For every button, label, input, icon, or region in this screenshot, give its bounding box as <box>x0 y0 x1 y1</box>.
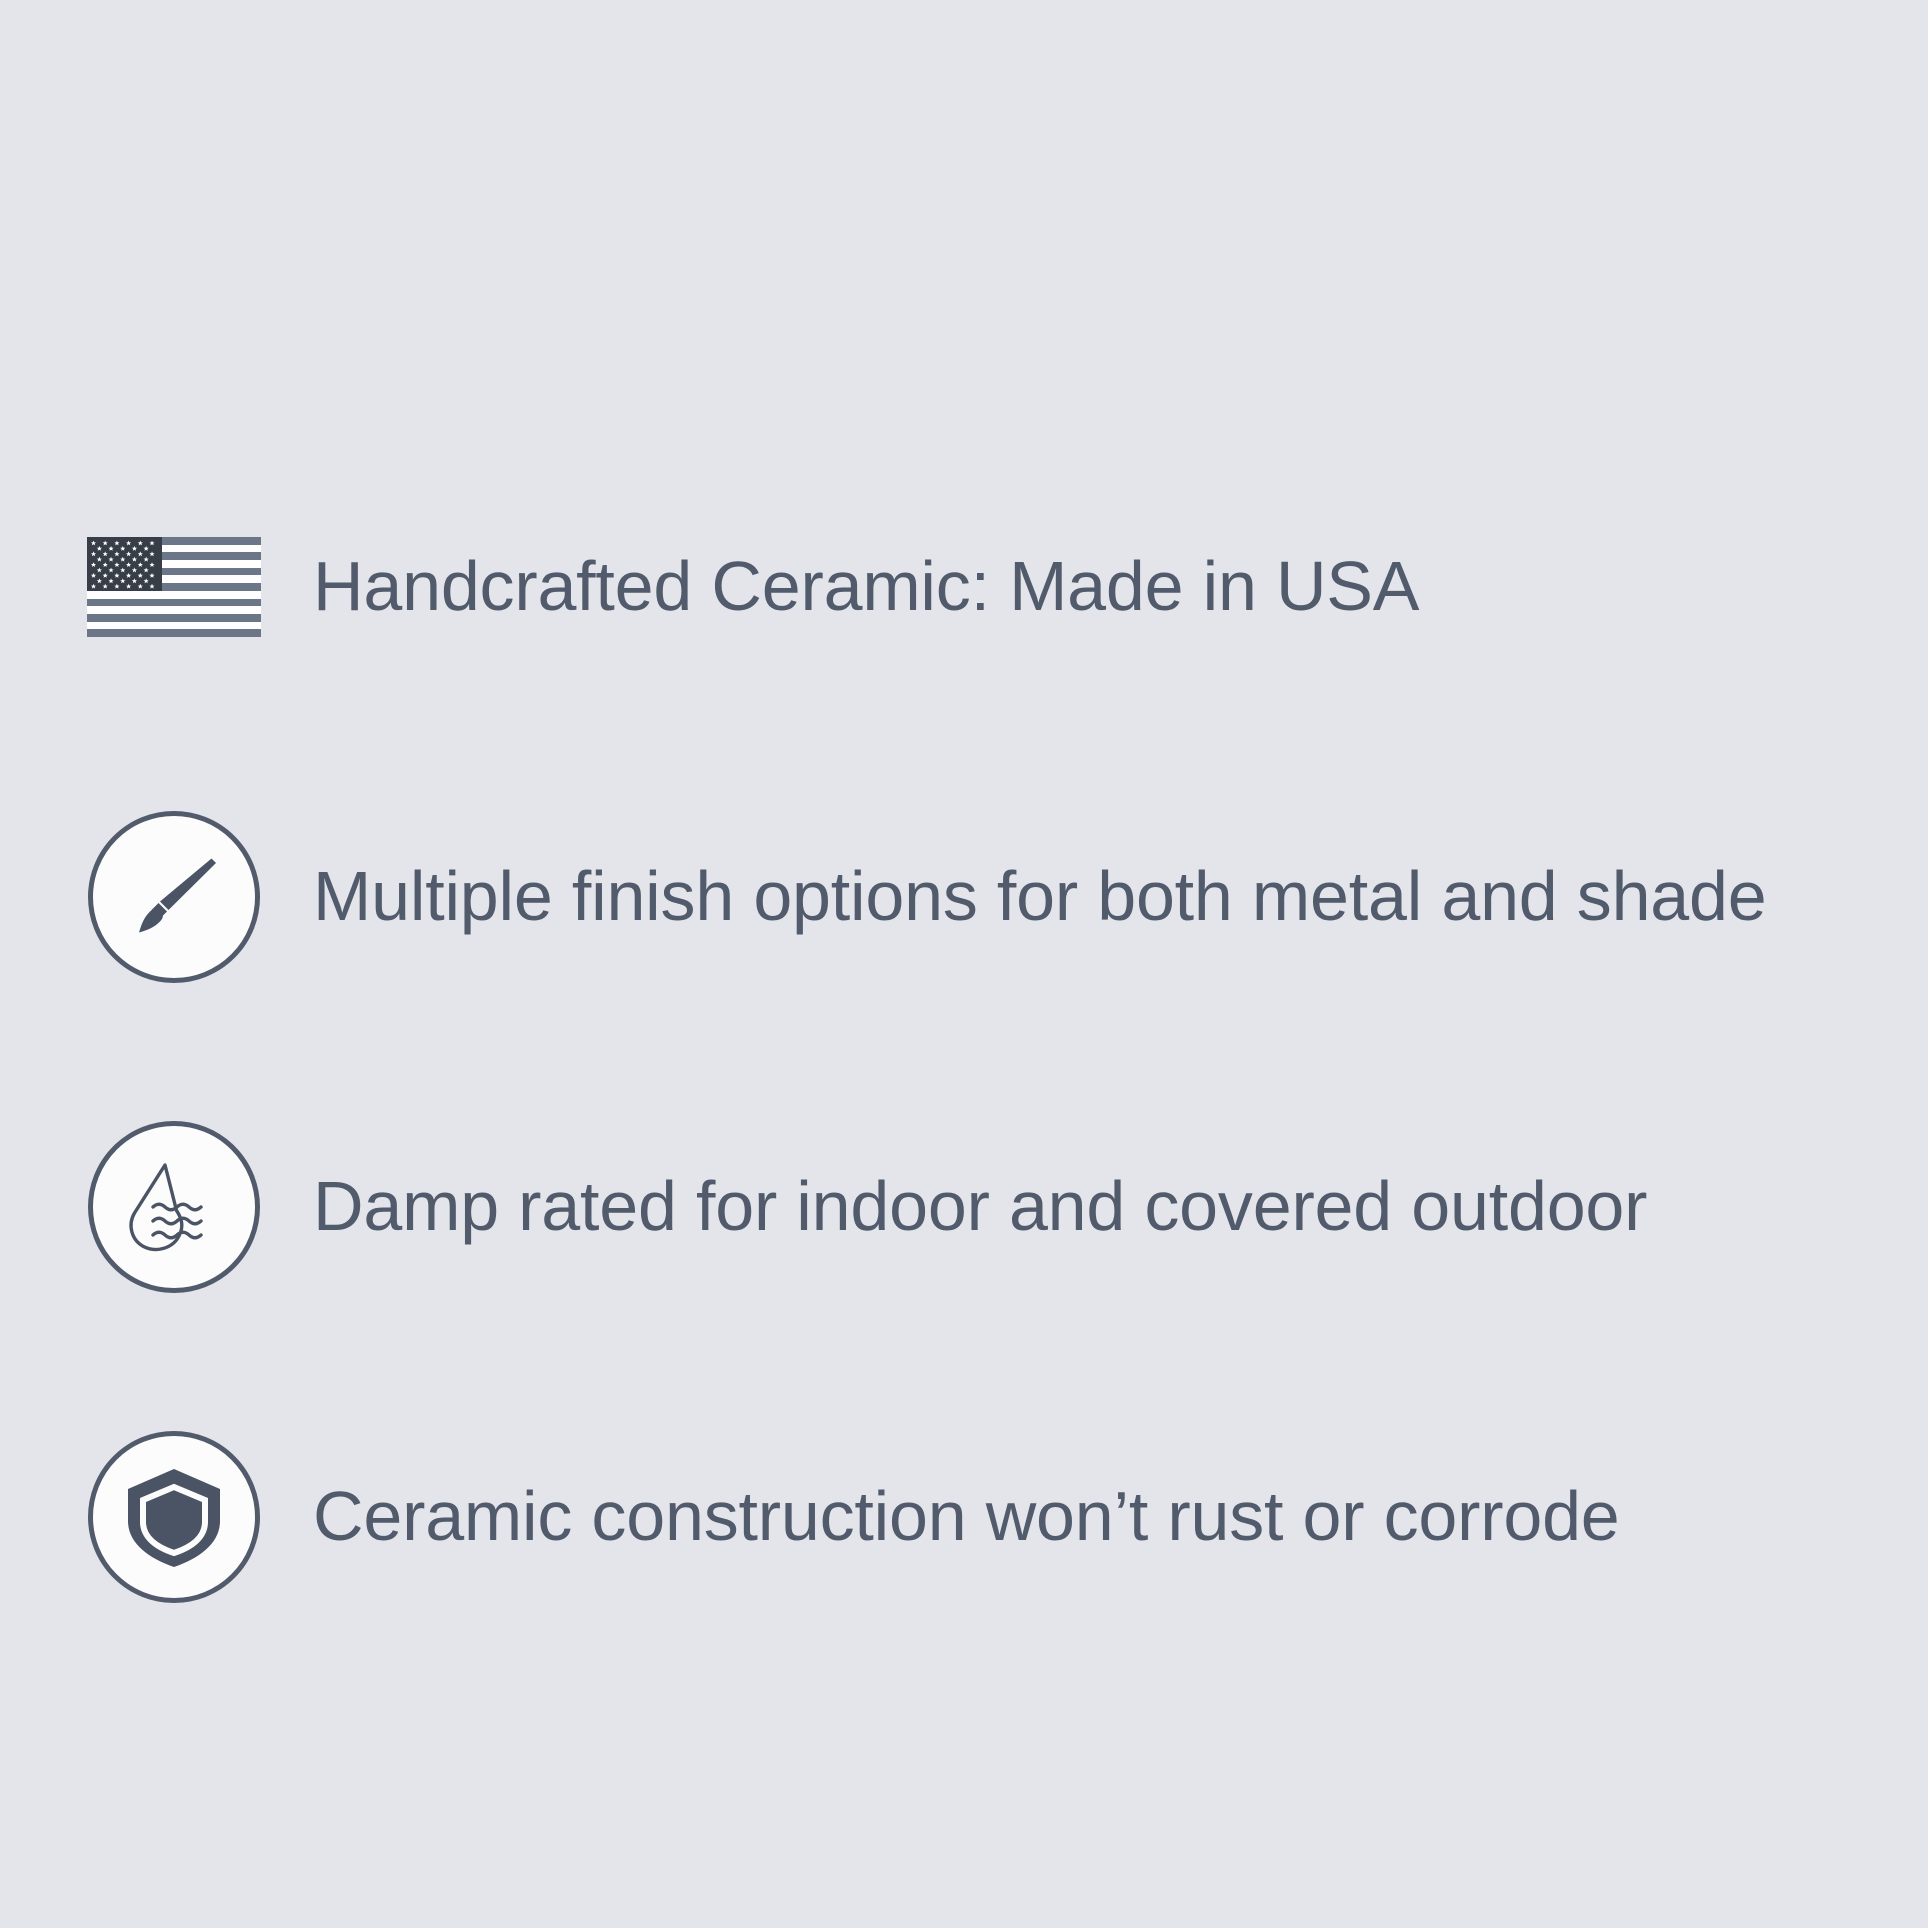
feature-row-finish-options: Multiple finish options for both metal a… <box>86 807 1886 987</box>
product-feature-panel: Handcrafted Ceramic: Made in USA Multipl… <box>0 0 1928 1928</box>
flag-canton <box>87 537 162 591</box>
feature-label: Handcrafted Ceramic: Made in USA <box>313 550 1419 624</box>
feature-row-damp-rated: Damp rated for indoor and covered outdoo… <box>86 1117 1886 1297</box>
usa-flag-icon <box>87 537 261 637</box>
water-droplet-waves-icon <box>88 1121 260 1293</box>
shield-icon <box>88 1431 260 1603</box>
feature-label: Multiple finish options for both metal a… <box>313 860 1767 934</box>
feature-label: Ceramic construction won’t rust or corro… <box>313 1480 1620 1554</box>
paintbrush-icon <box>88 811 260 983</box>
feature-row-wont-corrode: Ceramic construction won’t rust or corro… <box>86 1427 1886 1607</box>
feature-row-made-in-usa: Handcrafted Ceramic: Made in USA <box>86 497 1886 677</box>
feature-icon-slot <box>86 1429 262 1605</box>
feature-icon-slot <box>86 1119 262 1295</box>
feature-icon-slot <box>86 499 262 675</box>
feature-list: Handcrafted Ceramic: Made in USA Multipl… <box>86 497 1886 1607</box>
feature-icon-slot <box>86 809 262 985</box>
feature-label: Damp rated for indoor and covered outdoo… <box>313 1170 1647 1244</box>
